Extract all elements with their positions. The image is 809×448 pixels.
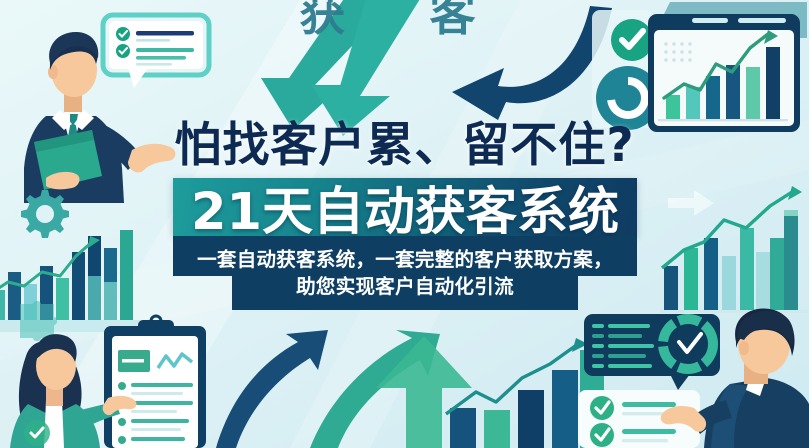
headline-secondary: 21天自动获客系统 [173,176,637,238]
man-back-view-dashboard [578,308,809,448]
check-circle-icon-small [22,418,52,448]
dark-dashboard-card [584,314,720,390]
subtitle-line-1: 一套自动获客系统，一套完整的客户获取方案， [197,246,613,273]
clipboard [104,316,206,448]
top-partial-heading: 获 客 [0,0,809,44]
headline-block: 怕找客户累、留不住? 21天自动获客系统 一套自动获客系统，一套完整的客户获取方… [0,118,809,314]
subtitle-text: 一套自动获客系统，一套完整的客户获取方案， 助您实现客户自动化引流 [173,236,637,310]
subtitle-line-2: 助您实现客户自动化引流 [296,273,514,300]
promotional-poster: 获 客 [0,0,809,448]
headline-primary: 怕找客户累、留不住? [0,118,809,174]
